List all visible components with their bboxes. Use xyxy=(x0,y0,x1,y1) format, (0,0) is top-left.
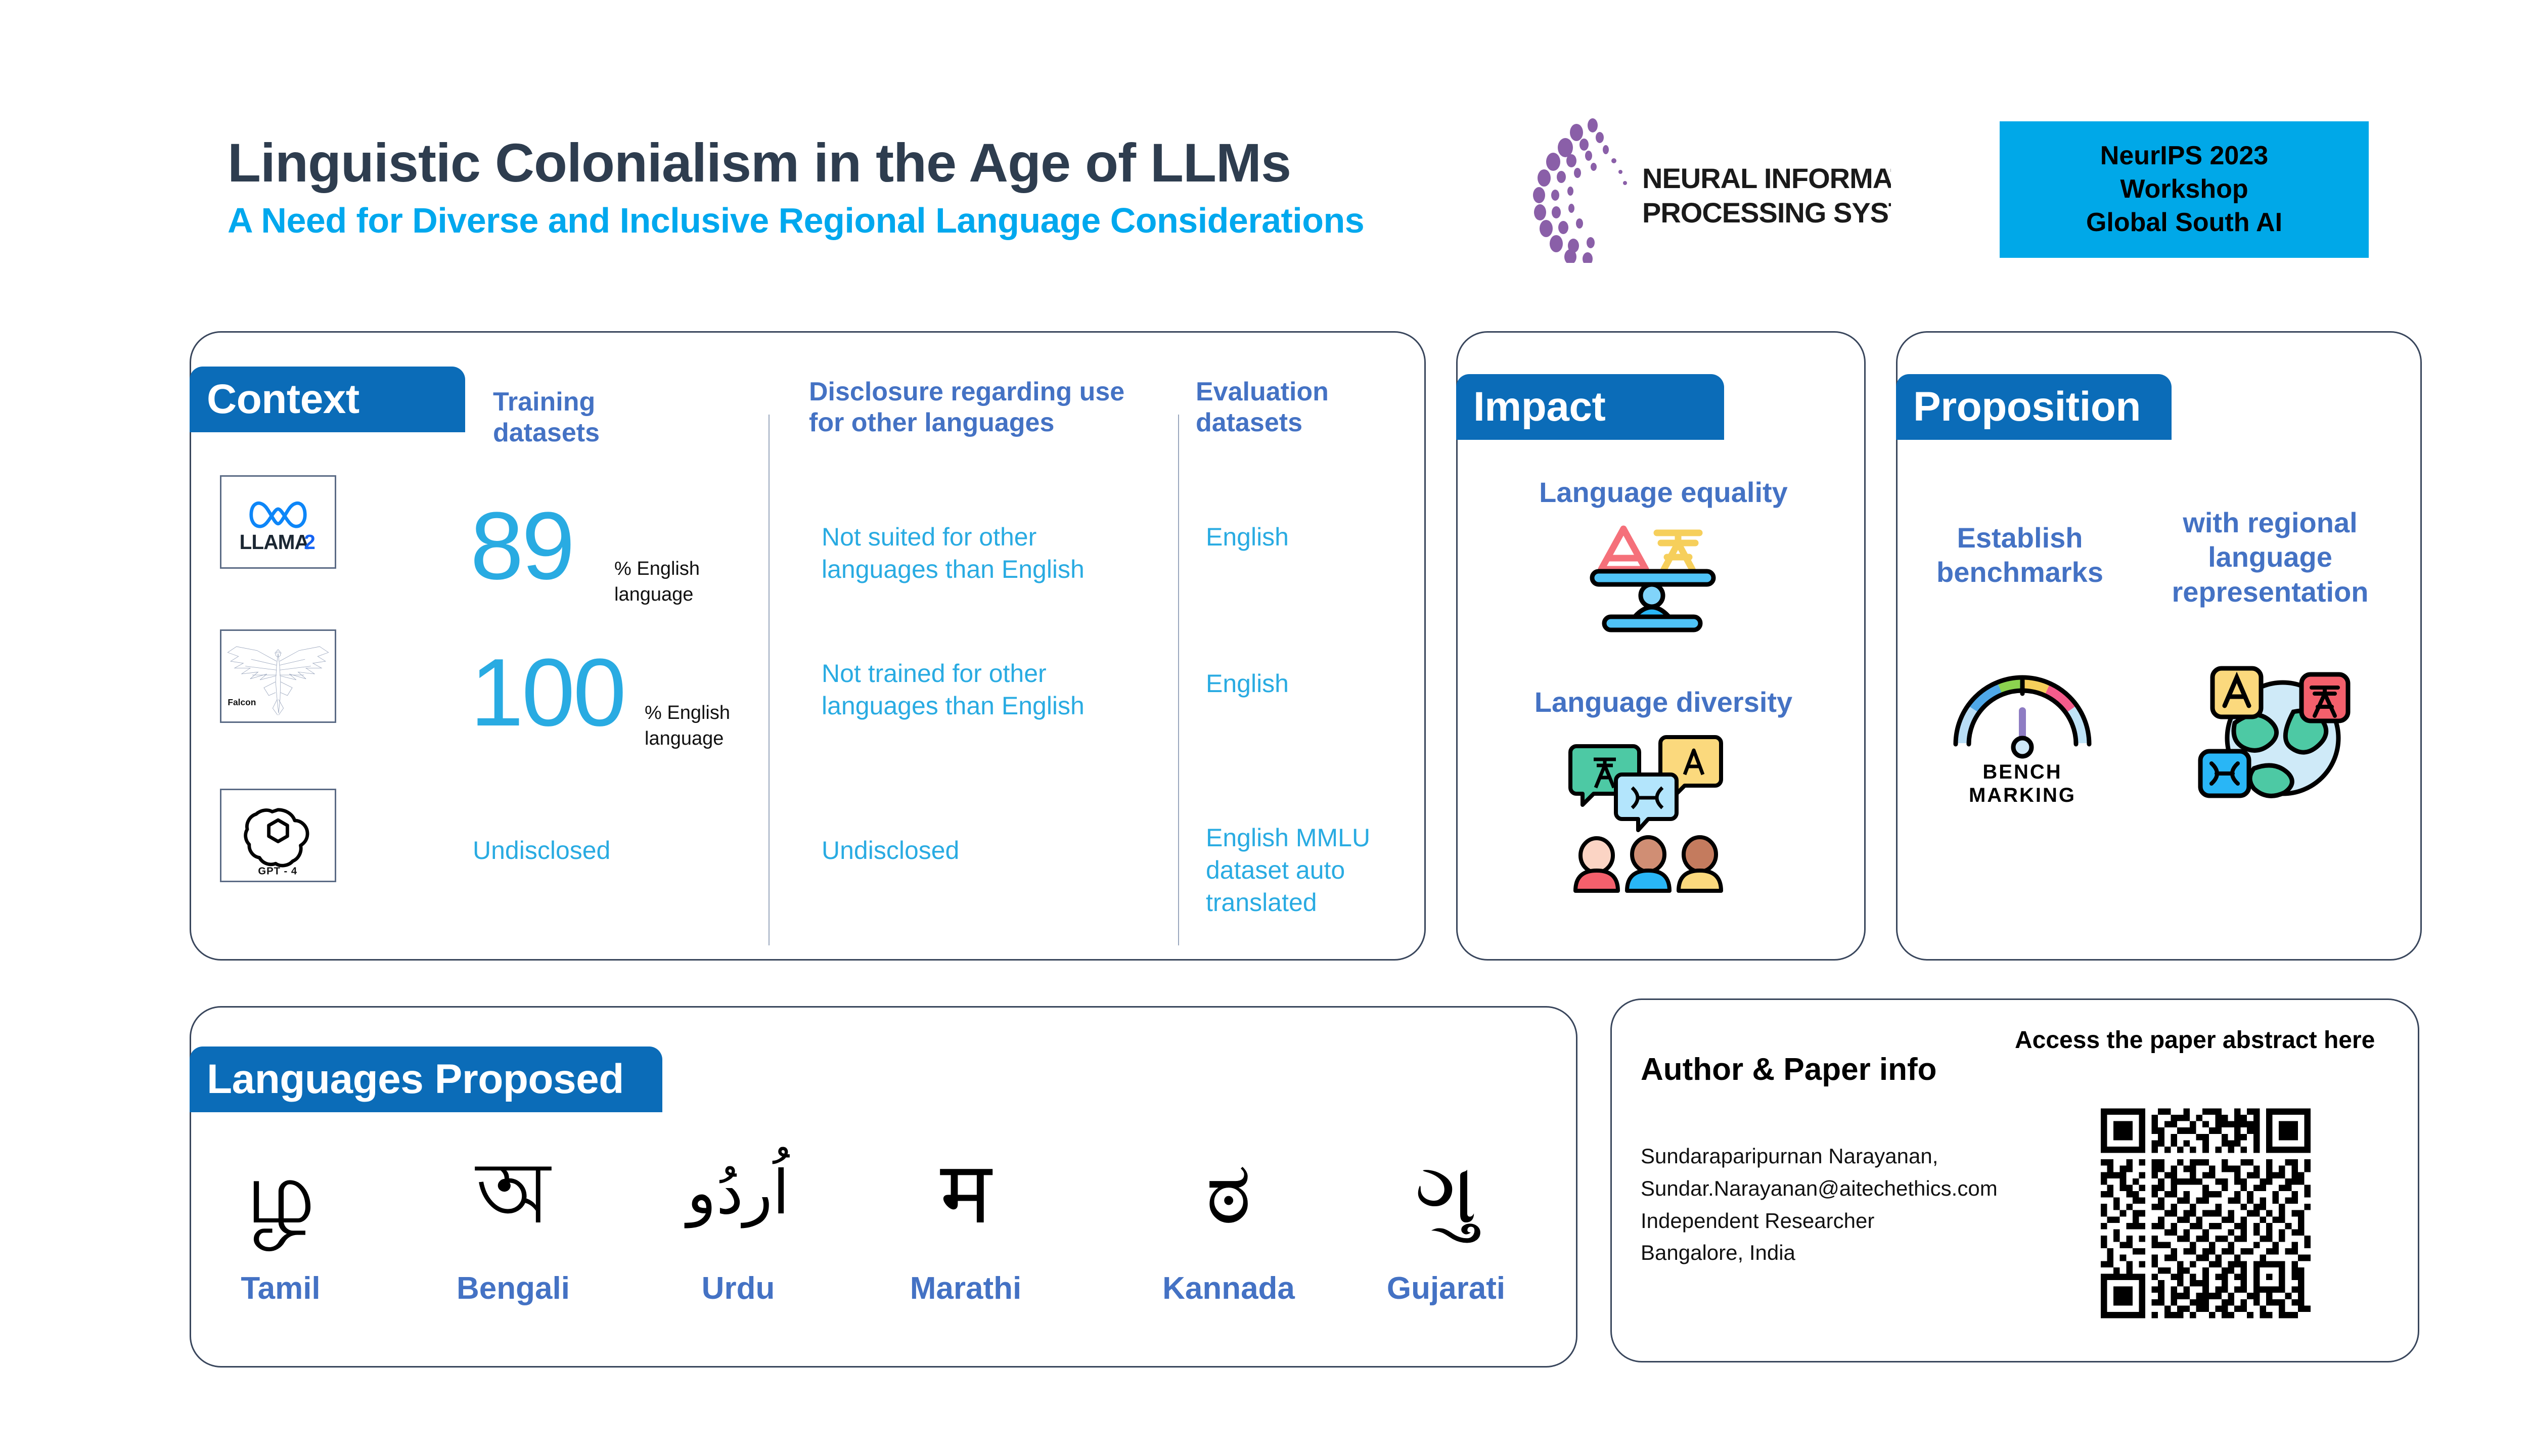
svg-text:BENCH: BENCH xyxy=(1982,761,2062,783)
neurips-workshop-badge: NeurIPS 2023 Workshop Global South AI xyxy=(2000,121,2369,258)
impact-item-label-language-equality: Language equality xyxy=(1471,475,1856,510)
language-label-urdu: Urdu xyxy=(702,1270,775,1306)
llama2-evaluation-cell: English xyxy=(1206,521,1378,553)
svg-text:NEURAL INFORMATION: NEURAL INFORMATION xyxy=(1642,162,1891,194)
proposition-item-label-regional-representation: with regional language representation xyxy=(2144,506,2397,609)
title-block: Linguistic Colonialism in the Age of LLM… xyxy=(228,134,1364,241)
author-details: Sundaraparipurnan Narayanan, Sundar.Nara… xyxy=(1641,1140,2035,1269)
author-info-heading: Author & Paper info xyxy=(1641,1052,1937,1087)
gpt4-evaluation-cell: English MMLU dataset auto translated xyxy=(1206,822,1388,919)
language-label-tamil: Tamil xyxy=(241,1270,320,1306)
language-item-tamil: ழ Tamil xyxy=(197,1135,364,1306)
gpt4-logo: GPT - 4 xyxy=(220,789,336,882)
languages-panel-tab: Languages Proposed xyxy=(190,1046,662,1112)
badge-line-3: Global South AI xyxy=(2086,208,2282,238)
svg-text:PROCESSING SYSTEMS: PROCESSING SYSTEMS xyxy=(1642,197,1891,229)
proposition-tab-label: Proposition xyxy=(1913,383,2141,431)
language-item-urdu: اُردُو Urdu xyxy=(655,1135,822,1306)
falcon-training-percentage: 100 xyxy=(470,645,624,741)
llama2-logo: LLAMA 2 xyxy=(220,475,336,569)
column-header-evaluation-datasets: Evaluation datasets xyxy=(1196,377,1363,439)
llama2-training-percentage: 89 xyxy=(470,498,573,594)
column-divider xyxy=(769,415,770,945)
svg-text:Falcon: Falcon xyxy=(228,697,256,707)
urdu-glyph: اُردُو xyxy=(687,1135,790,1251)
proposition-item-label-establish-benchmarks: Establish benchmarks xyxy=(1916,521,2124,590)
qr-code-heading: Access the paper abstract here xyxy=(2015,1026,2375,1054)
bengali-glyph: অ xyxy=(476,1135,550,1251)
speech-bubbles-people-icon xyxy=(1567,728,1729,895)
globe-language-tiles-icon xyxy=(2194,657,2356,809)
context-panel-tab: Context xyxy=(190,367,465,432)
poster-header: Linguistic Colonialism in the Age of LLM… xyxy=(0,0,2528,313)
gpt4-disclosure-cell: Undisclosed xyxy=(822,834,1090,867)
column-header-disclosure: Disclosure regarding use for other langu… xyxy=(809,377,1163,439)
column-header-training-datasets: Training datasets xyxy=(493,387,705,449)
badge-line-2: Workshop xyxy=(2120,174,2248,205)
falcon-disclosure-cell: Not trained for other languages than Eng… xyxy=(822,657,1155,722)
paper-abstract-qr-code[interactable] xyxy=(2101,1100,2311,1327)
page-title: Linguistic Colonialism in the Age of LLM… xyxy=(228,134,1364,191)
llama2-training-unit: % English language xyxy=(614,556,720,608)
poster-root: Linguistic Colonialism in the Age of LLM… xyxy=(0,0,2528,1456)
balance-scale-language-icon xyxy=(1575,521,1727,657)
language-label-marathi: Marathi xyxy=(910,1270,1021,1306)
svg-text:2: 2 xyxy=(304,530,315,554)
language-item-gujarati: ગુ Gujarati xyxy=(1363,1135,1529,1306)
falcon-training-unit: % English language xyxy=(645,700,751,752)
svg-text:GPT - 4: GPT - 4 xyxy=(258,866,297,877)
tamil-glyph: ழ xyxy=(246,1135,315,1251)
falcon-evaluation-cell: English xyxy=(1206,667,1378,700)
language-label-kannada: Kannada xyxy=(1162,1270,1295,1306)
kannada-glyph: ಠ xyxy=(1206,1135,1251,1251)
marathi-glyph: म xyxy=(940,1135,991,1251)
languages-tab-label: Languages Proposed xyxy=(207,1056,624,1103)
neurips-logo: NEURAL INFORMATION PROCESSING SYSTEMS xyxy=(1517,101,1891,263)
svg-text:MARKING: MARKING xyxy=(1969,784,2076,806)
context-tab-label: Context xyxy=(207,376,359,423)
impact-panel-tab: Impact xyxy=(1456,374,1724,440)
language-label-bengali: Bengali xyxy=(457,1270,570,1306)
proposition-panel-tab: Proposition xyxy=(1896,374,2172,440)
language-item-marathi: म Marathi xyxy=(882,1135,1049,1306)
gujarati-glyph: ગુ xyxy=(1415,1135,1477,1251)
svg-text:LLAMA: LLAMA xyxy=(240,530,309,554)
falcon-logo: Falcon xyxy=(220,629,336,723)
language-label-gujarati: Gujarati xyxy=(1387,1270,1505,1306)
benchmark-gauge-icon: BENCH MARKING xyxy=(1947,662,2098,814)
impact-item-label-language-diversity: Language diversity xyxy=(1471,685,1856,719)
language-item-kannada: ಠ Kannada xyxy=(1145,1135,1312,1306)
impact-tab-label: Impact xyxy=(1473,383,1605,431)
language-item-bengali: অ Bengali xyxy=(430,1135,597,1306)
gpt4-training-cell: Undisclosed xyxy=(473,834,690,867)
column-divider xyxy=(1178,415,1179,945)
page-subtitle: A Need for Diverse and Inclusive Regiona… xyxy=(228,200,1364,241)
badge-line-1: NeurIPS 2023 xyxy=(2100,141,2268,171)
llama2-disclosure-cell: Not suited for other languages than Engl… xyxy=(822,521,1155,585)
